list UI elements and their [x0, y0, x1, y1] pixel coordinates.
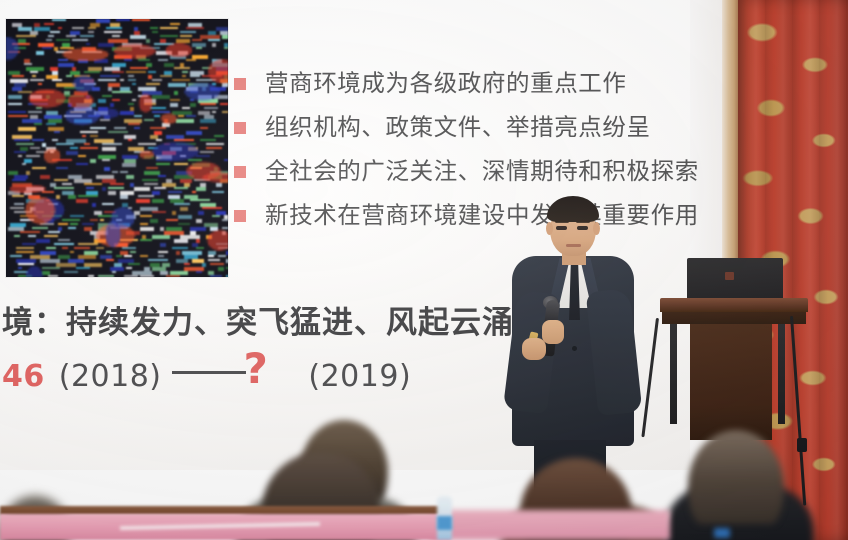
- speaker-brow-right: [576, 220, 590, 223]
- lectern-top: [660, 298, 808, 312]
- list-item: 营商环境成为各级政府的重点工作: [234, 62, 720, 106]
- speaker-ear-right: [593, 222, 600, 235]
- speaker-mouth: [566, 244, 581, 247]
- speaker-brow-left: [555, 220, 569, 223]
- rank-value: 46: [2, 359, 45, 394]
- slide-bullet-list: 营商环境成为各级政府的重点工作 组织机构、政策文件、举措亮点纷呈 全社会的广泛关…: [234, 62, 720, 238]
- slide-stats-line: 46 (2018) ? (2019): [2, 355, 522, 397]
- bullet-text: 营商环境成为各级政府的重点工作: [265, 72, 627, 96]
- square-bullet-icon: [234, 166, 246, 178]
- slide-headline: 境：持续发力、突飞猛进、风起云涌: [2, 297, 562, 342]
- speaker-hand-pointer: [522, 338, 546, 360]
- audience-badge-icon: [714, 528, 730, 538]
- list-item: 全社会的广泛关注、深情期待和积极探索: [234, 150, 720, 194]
- presentation-photo: 营商环境成为各级政府的重点工作 组织机构、政策文件、举措亮点纷呈 全社会的广泛关…: [0, 0, 848, 540]
- speaker-ear-left: [546, 222, 553, 235]
- speaker-eye-left: [556, 226, 567, 230]
- speaker-hair: [547, 196, 599, 222]
- rank-year: (2018): [59, 359, 162, 394]
- lectern-leg-right: [778, 324, 785, 424]
- lectern-body: [690, 324, 772, 440]
- speaker-person: [498, 196, 644, 446]
- list-item: 组织机构、政策文件、举措亮点纷呈: [234, 106, 720, 150]
- wall-socket-icon: [797, 438, 807, 452]
- unknown-value: ?: [244, 344, 269, 393]
- square-bullet-icon: [234, 78, 246, 90]
- speaker-eye-right: [577, 226, 588, 230]
- lectern-leg-left: [670, 324, 677, 424]
- laptop: [687, 258, 783, 300]
- speaker-hand-microphone: [542, 320, 564, 344]
- square-bullet-icon: [234, 122, 246, 134]
- laptop-logo-icon: [725, 272, 734, 280]
- square-bullet-icon: [234, 210, 246, 222]
- lectern-lip: [662, 312, 806, 324]
- connector-dash-icon: [172, 371, 246, 374]
- bullet-text: 全社会的广泛关注、深情期待和积极探索: [265, 160, 699, 184]
- list-item: 新技术在营商环境建设中发挥其重要作用: [234, 194, 720, 238]
- slide-photo-night-city: [6, 19, 228, 277]
- water-bottle-label: [437, 516, 452, 530]
- unknown-year: (2019): [308, 359, 411, 394]
- jacket-button-icon: [572, 346, 577, 351]
- audience-table-right: [430, 510, 670, 540]
- bullet-text: 组织机构、政策文件、举措亮点纷呈: [265, 116, 651, 140]
